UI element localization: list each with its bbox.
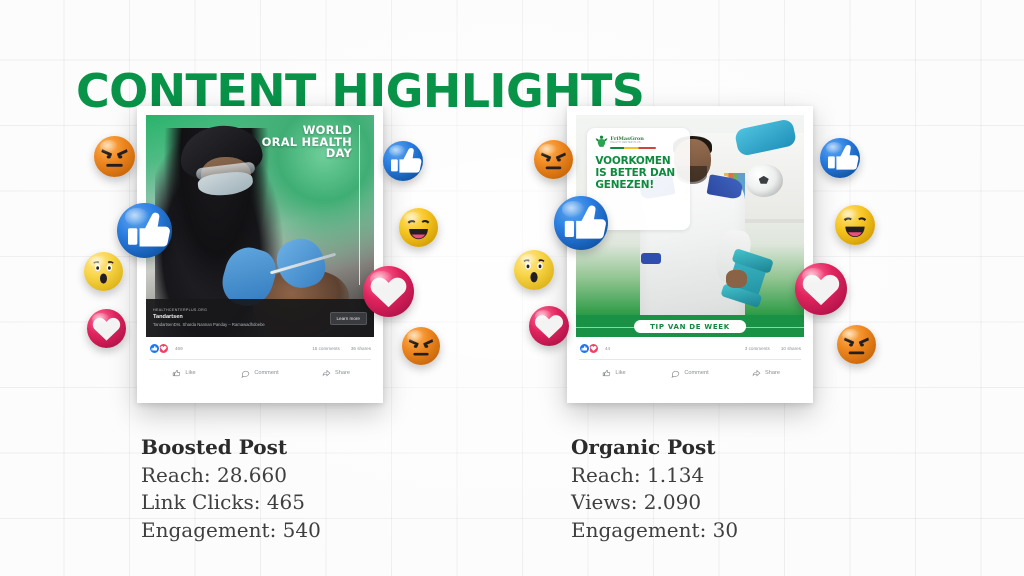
reaction-sphere-body: [529, 306, 569, 346]
wow-reaction-icon: [514, 250, 554, 290]
stats-organic-post: Organic Post Reach: 1.134 Views: 2.090 E…: [571, 434, 738, 544]
angry-reaction-icon: [534, 140, 573, 179]
reaction-sphere-body: [363, 266, 414, 317]
angry-reaction-icon: [94, 136, 135, 177]
learn-more-button[interactable]: Learn more: [330, 312, 368, 325]
post-stats-meta: 3 comments 10 shares: [745, 346, 801, 351]
like-button[interactable]: Like: [576, 369, 652, 378]
reaction-sphere-body: [94, 136, 135, 177]
shares-count[interactable]: 36 shares: [351, 346, 371, 351]
haha-reaction-icon: [835, 205, 875, 245]
comment-button[interactable]: Comment: [222, 369, 298, 378]
like-pip-icon: [579, 343, 590, 354]
comment-button-label: Comment: [254, 370, 278, 376]
creative-headline-line-3: DAY: [262, 148, 352, 160]
reaction-sphere-body: [84, 252, 123, 291]
reaction-pips[interactable]: 469: [149, 343, 183, 354]
logo-color-bar: [610, 147, 656, 149]
reaction-count: 44: [605, 346, 610, 351]
reaction-sphere-body: [514, 250, 554, 290]
post-stats-row: 469 15 comments 36 shares: [146, 337, 374, 359]
like-reaction-icon: [554, 196, 608, 250]
angry-reaction-icon: [402, 327, 440, 365]
reaction-sphere-body: [795, 263, 847, 315]
share-button[interactable]: Share: [728, 369, 804, 378]
comment-bubble-icon: [241, 369, 250, 378]
stats-boosted-post: Boosted Post Reach: 28.660 Link Clicks: …: [141, 434, 321, 544]
thumbs-up-icon: [602, 369, 611, 378]
like-button[interactable]: Like: [146, 369, 222, 378]
share-button[interactable]: Share: [298, 369, 374, 378]
love-reaction-icon: [363, 266, 414, 317]
therapist-hand: [726, 270, 747, 288]
haha-reaction-icon: [399, 208, 438, 247]
like-button-label: Like: [615, 370, 625, 376]
logo-subtitle: HEALTH CENTER PLUS: [610, 142, 656, 144]
like-reaction-icon: [383, 141, 423, 181]
wow-reaction-icon: [84, 252, 123, 291]
comments-count[interactable]: 15 comments: [312, 346, 340, 351]
headline-rule: [359, 125, 361, 285]
share-arrow-icon: [752, 369, 761, 378]
share-arrow-icon: [322, 369, 331, 378]
creative-headline-line-3: GENEZEN!: [595, 180, 683, 192]
comment-button-label: Comment: [684, 370, 708, 376]
post-creative-boosted: WORLD ORAL HEALTH DAY HEALTHCENTERPLUS.O…: [146, 115, 374, 337]
reaction-sphere-body: [554, 196, 608, 250]
reaction-sphere-body: [399, 208, 438, 247]
link-title: Tandartsen: [153, 313, 330, 322]
stats-line-engagement: Engagement: 540: [141, 517, 321, 545]
reaction-sphere-body: [835, 205, 875, 245]
reaction-sphere-body: [87, 309, 126, 348]
like-pip-icon: [149, 343, 160, 354]
reaction-sphere-body: [402, 327, 440, 365]
love-reaction-icon: [87, 309, 126, 348]
post-stats-meta: 15 comments 36 shares: [312, 346, 371, 351]
reaction-count: 469: [175, 346, 183, 351]
logo-person-icon: [595, 135, 608, 150]
creative-headline: VOORKOMEN IS BETER DAN GENEZEN!: [595, 156, 683, 191]
love-reaction-icon: [795, 263, 847, 315]
reaction-sphere-body: [534, 140, 573, 179]
reaction-sphere-body: [820, 138, 860, 178]
like-button-label: Like: [185, 370, 195, 376]
post-actions-row: Like Comment Share: [146, 360, 374, 386]
post-card-organic[interactable]: FriMasGron HEALTH CENTER PLUS VOORKOMEN …: [567, 106, 813, 403]
shares-count[interactable]: 10 shares: [781, 346, 801, 351]
like-reaction-icon: [117, 203, 172, 258]
post-actions-row: Like Comment Share: [576, 360, 804, 386]
post-card-boosted[interactable]: WORLD ORAL HEALTH DAY HEALTHCENTERPLUS.O…: [137, 106, 383, 403]
stats-title: Boosted Post: [141, 434, 321, 462]
stats-line-link-clicks: Link Clicks: 465: [141, 489, 321, 517]
stats-line-views: Views: 2.090: [571, 489, 738, 517]
post-stats-row: 44 3 comments 10 shares: [576, 337, 804, 359]
logo-wordmark: FriMasGron HEALTH CENTER PLUS: [610, 137, 656, 148]
link-subtitle: TandartsenDrs. Sharda Nannan Panday – Ra…: [153, 322, 330, 328]
thumbs-up-icon: [172, 369, 181, 378]
angry-reaction-icon: [837, 325, 876, 364]
share-button-label: Share: [335, 370, 350, 376]
stats-title: Organic Post: [571, 434, 738, 462]
comments-count[interactable]: 3 comments: [745, 346, 770, 351]
uniform-cuff: [641, 253, 662, 264]
reaction-sphere-body: [383, 141, 423, 181]
stats-line-engagement: Engagement: 30: [571, 517, 738, 545]
like-reaction-icon: [820, 138, 860, 178]
reaction-sphere-body: [117, 203, 172, 258]
link-preview-strip[interactable]: HEALTHCENTERPLUS.ORG Tandartsen Tandarts…: [146, 299, 374, 337]
share-button-label: Share: [765, 370, 780, 376]
stats-line-reach: Reach: 1.134: [571, 462, 738, 490]
comment-button[interactable]: Comment: [652, 369, 728, 378]
reaction-pips[interactable]: 44: [579, 343, 610, 354]
post-chrome-organic: 44 3 comments 10 shares Like Comment Sha…: [576, 337, 804, 386]
creative-headline: WORLD ORAL HEALTH DAY: [262, 125, 352, 160]
link-preview-text: HEALTHCENTERPLUS.ORG Tandartsen Tandarts…: [153, 308, 330, 328]
reaction-sphere-body: [837, 325, 876, 364]
tip-badge: TIP VAN DE WEEK: [634, 320, 746, 333]
comment-bubble-icon: [671, 369, 680, 378]
stats-line-reach: Reach: 28.660: [141, 462, 321, 490]
love-reaction-icon: [529, 306, 569, 346]
post-creative-organic: FriMasGron HEALTH CENTER PLUS VOORKOMEN …: [576, 115, 804, 337]
post-chrome-boosted: 469 15 comments 36 shares Like Comment S…: [146, 337, 374, 386]
brand-logo: FriMasGron HEALTH CENTER PLUS: [595, 135, 683, 150]
creative-artwork-physio: FriMasGron HEALTH CENTER PLUS VOORKOMEN …: [576, 115, 804, 337]
